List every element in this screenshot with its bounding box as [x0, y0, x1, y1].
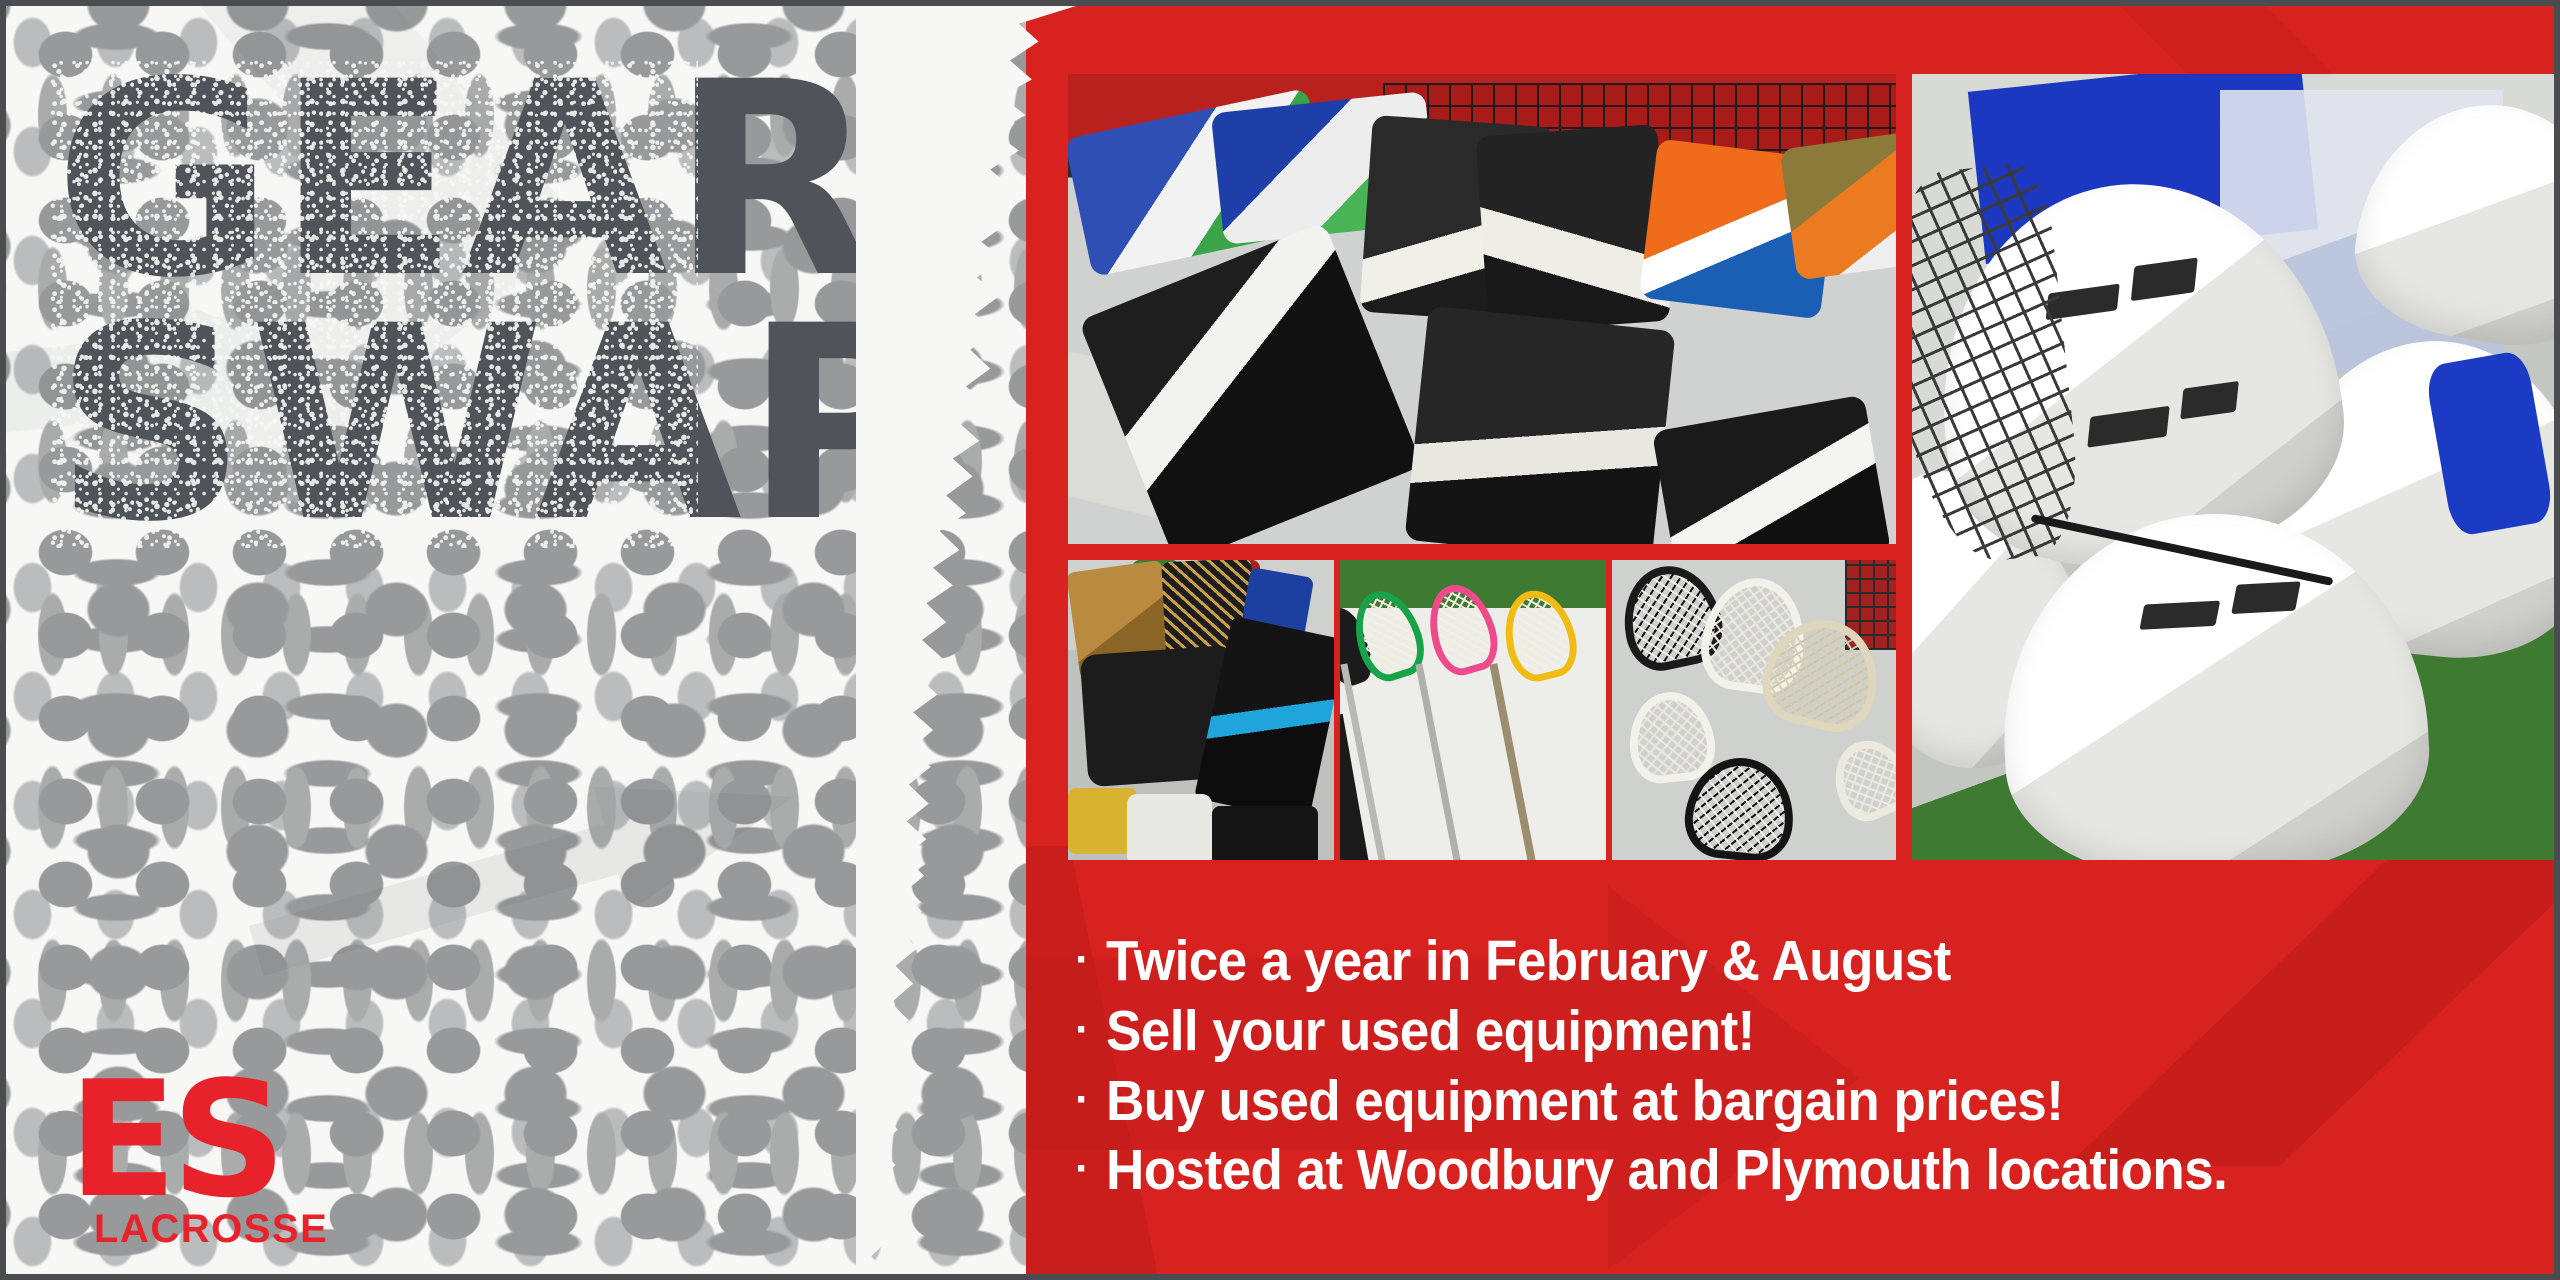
headline-line-swap: SWAP	[54, 308, 694, 544]
bullet-text: Twice a year in February & August	[1106, 930, 1951, 994]
list-item: · Twice a year in February & August	[1075, 930, 2475, 994]
logo-mark-es: ES	[68, 1074, 328, 1205]
photo-colored-stick-heads	[1340, 560, 1606, 860]
bullet-dot-icon: ·	[1075, 1078, 1090, 1122]
headline-line-gear: GEAR	[54, 64, 694, 300]
list-item: · Sell your used equipment!	[1075, 1000, 2475, 1064]
bullet-text: Buy used equipment at bargain prices!	[1106, 1070, 2063, 1134]
bullet-text: Hosted at Woodbury and Plymouth location…	[1106, 1139, 2227, 1203]
bullet-text: Sell your used equipment!	[1106, 1000, 1755, 1064]
page-title: GEAR SWAP	[54, 64, 694, 544]
bullet-dot-icon: ·	[1075, 1147, 1090, 1191]
photo-equipment-bags-and-helmet	[1068, 560, 1334, 860]
photo-lacrosse-gloves-on-table	[1068, 74, 1896, 544]
arrow-watermark-icon	[238, 734, 812, 1013]
photo-white-lacrosse-helmets	[1912, 74, 2554, 860]
photo-white-mesh-heads	[1612, 560, 1896, 860]
list-item: · Buy used equipment at bargain prices!	[1075, 1070, 2475, 1134]
logo-wordmark-lacrosse: LACROSSE	[94, 1207, 328, 1252]
bullet-dot-icon: ·	[1075, 1008, 1090, 1052]
bullet-list: · Twice a year in February & August · Se…	[1075, 930, 2475, 1209]
es-lacrosse-logo: ES LACROSSE	[68, 1074, 328, 1252]
bullet-dot-icon: ·	[1075, 938, 1090, 982]
gear-swap-poster: GEAR SWAP ES LACROSSE · Twice a year in …	[0, 0, 2560, 1280]
list-item: · Hosted at Woodbury and Plymouth locati…	[1075, 1139, 2475, 1203]
